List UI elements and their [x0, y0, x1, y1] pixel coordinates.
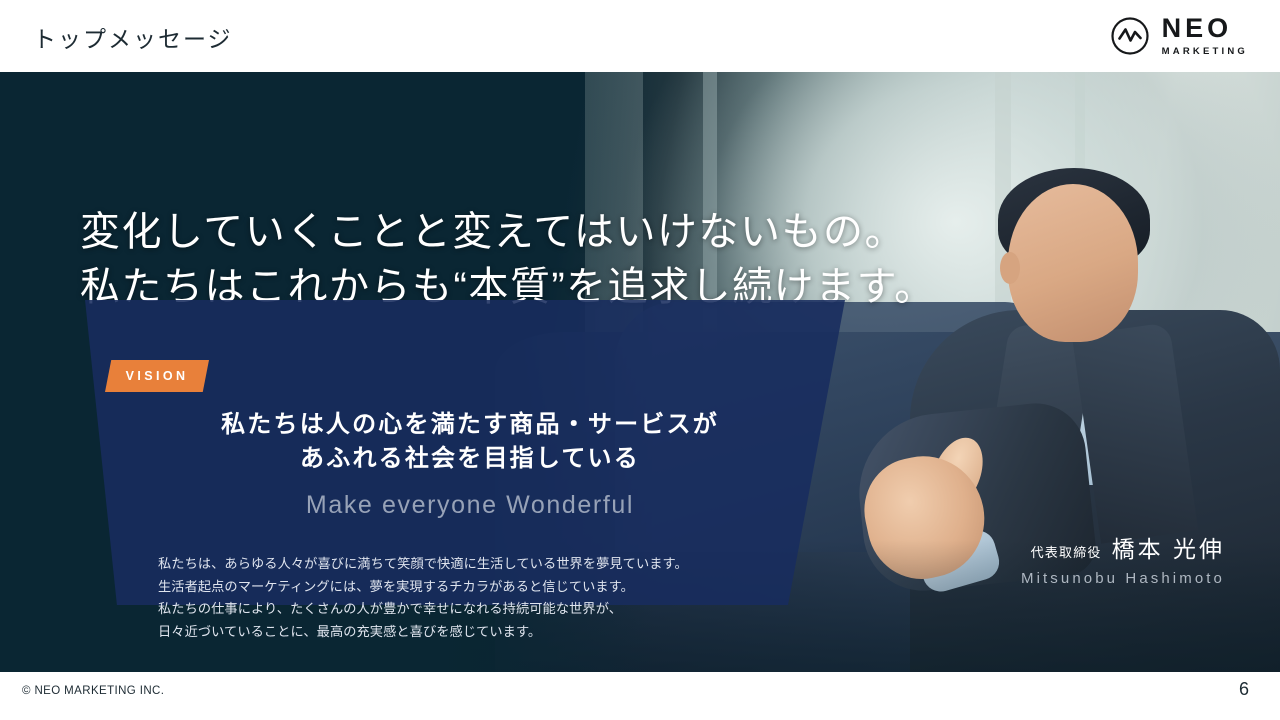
page-title: トップメッセージ	[33, 20, 233, 54]
headline: 変化していくことと変えてはいけないもの。 私たちはこれからも“本質”を追求し続け…	[80, 205, 900, 315]
vision-body-line-2: 生活者起点のマーケティングには、夢を実現するチカラがあると信じています。	[158, 576, 818, 599]
slide-header: トップメッセージ NEO MARKETING	[0, 0, 1280, 72]
signature-block: 代表取締役 橋本 光伸 Mitsunobu Hashimoto	[1021, 530, 1225, 587]
signature-romaji: Mitsunobu Hashimoto	[1021, 570, 1225, 587]
slide: トップメッセージ NEO MARKETING	[0, 0, 1280, 720]
footer-copyright: © NEO MARKETING INC.	[22, 685, 164, 697]
vision-body-line-1: 私たちは、あらゆる人々が喜びに満ちて笑顔で快適に生活している世界を夢見ています。	[158, 553, 818, 576]
vision-body: 私たちは、あらゆる人々が喜びに満ちて笑顔で快適に生活している世界を夢見ています。…	[158, 553, 818, 643]
brand-logo: NEO MARKETING	[1110, 15, 1248, 57]
vision-statement-line-1: 私たちは人の心を満たす商品・サービスが	[120, 408, 820, 442]
vision-body-line-3: 私たちの仕事により、たくさんの人が豊かで幸せになれる持続可能な世界が、	[158, 598, 818, 621]
vision-body-line-4: 日々近づいていることに、最高の充実感と喜びを感じています。	[158, 621, 818, 644]
signature-name: 橋本 光伸	[1112, 530, 1225, 564]
headline-line-1: 変化していくことと変えてはいけないもの。	[80, 205, 900, 260]
logo-subtitle: MARKETING	[1162, 47, 1248, 57]
vision-tagline: Make everyone Wonderful	[120, 491, 820, 520]
vision-badge: VISION	[105, 360, 209, 392]
vision-statement: 私たちは人の心を満たす商品・サービスが あふれる社会を目指している Make e…	[120, 408, 820, 520]
logo-wordmark: NEO MARKETING	[1162, 15, 1248, 57]
signature-name-row: 代表取締役 橋本 光伸	[1021, 530, 1225, 564]
vision-badge-label: VISION	[126, 369, 189, 383]
signature-role: 代表取締役	[1031, 542, 1102, 561]
slide-stage: 変化していくことと変えてはいけないもの。 私たちはこれからも“本質”を追求し続け…	[0, 72, 1280, 672]
wave-circle-icon	[1110, 16, 1150, 56]
logo-name: NEO	[1162, 15, 1248, 42]
vision-statement-line-2: あふれる社会を目指している	[120, 442, 820, 476]
page-number: 6	[1239, 679, 1249, 700]
slide-footer: © NEO MARKETING INC. 6	[0, 672, 1280, 720]
